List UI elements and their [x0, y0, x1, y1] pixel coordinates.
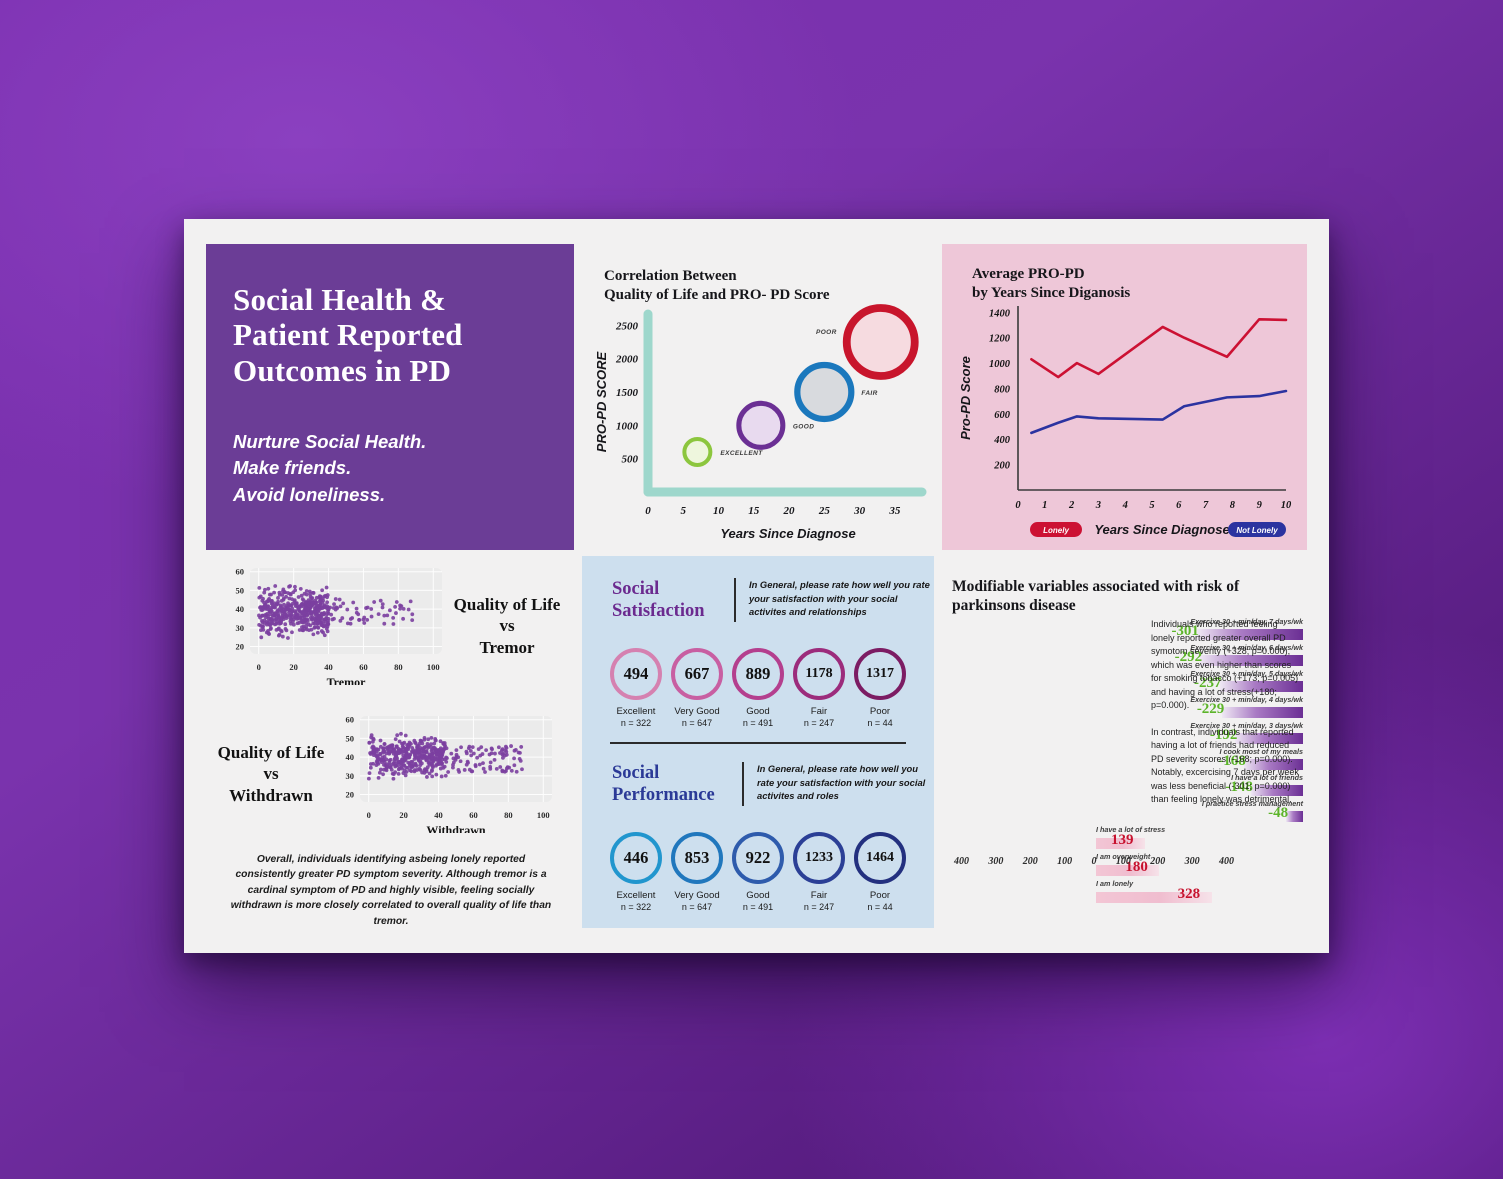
svg-text:80: 80	[504, 810, 513, 820]
svg-text:35: 35	[888, 505, 901, 517]
ring-value: 446	[624, 848, 649, 868]
tornado-value: 139	[1111, 832, 1134, 849]
poster-canvas: Social Health & Patient Reported Outcome…	[184, 219, 1329, 953]
ring-count: n = 44	[852, 902, 908, 912]
ring-good: 922	[732, 832, 784, 884]
svg-text:2000: 2000	[615, 354, 639, 366]
svg-text:30: 30	[853, 505, 866, 517]
svg-text:Not Lonely: Not Lonely	[1236, 526, 1278, 535]
svg-text:500: 500	[622, 454, 639, 466]
svg-text:15: 15	[748, 505, 760, 517]
svg-text:20: 20	[783, 505, 796, 517]
svg-text:Years Since Diagnose: Years Since Diagnose	[1094, 522, 1229, 537]
svg-text:Withdrawn: Withdrawn	[426, 823, 485, 833]
tornado-panel: Modifiable variables associated with ris…	[942, 556, 1307, 928]
line-chart-panel: Average PRO-PD by Years Since Diganosis …	[942, 244, 1307, 550]
svg-text:30: 30	[236, 623, 245, 633]
social-satisfaction-question: In General, please rate how well you rat…	[749, 578, 935, 619]
ring-value: 1233	[805, 850, 833, 866]
svg-text:25: 25	[818, 505, 831, 517]
ring-cell[interactable]: 1464Poorn = 44	[852, 832, 908, 912]
satisfaction-rule	[734, 578, 736, 622]
svg-text:40: 40	[346, 752, 355, 762]
social-satisfaction-heading-line1: Social	[612, 578, 705, 600]
ring-cell[interactable]: 1178Fairn = 247	[791, 648, 847, 728]
ring-count: n = 322	[608, 718, 664, 728]
svg-text:FAIR: FAIR	[861, 390, 877, 397]
social-satisfaction-rings: 494Excellentn = 322667Very Goodn = 64788…	[582, 648, 934, 728]
tornado-value: 328	[1178, 886, 1201, 903]
social-divider	[610, 742, 906, 744]
line-title-line1: Average PRO-PD	[972, 265, 1130, 284]
svg-text:Years Since Diagnose: Years Since Diagnose	[720, 526, 855, 541]
svg-text:60: 60	[469, 810, 478, 820]
ring-good: 889	[732, 648, 784, 700]
svg-text:Tremor: Tremor	[327, 675, 367, 685]
tornado-paragraph-2: In contrast, individuals that reported h…	[1151, 726, 1301, 807]
tornado-tick: 200	[1023, 856, 1038, 867]
svg-text:30: 30	[346, 771, 355, 781]
ring-value: 667	[685, 664, 710, 684]
ring-value: 853	[685, 848, 710, 868]
svg-text:0: 0	[1015, 500, 1021, 511]
social-performance-heading-line2: Performance	[612, 784, 715, 806]
qol-vs-tremor-svg: 0204060801002030405060Tremor	[220, 560, 452, 685]
svg-text:100: 100	[427, 662, 440, 672]
svg-text:2: 2	[1068, 500, 1075, 511]
svg-text:6: 6	[1176, 500, 1182, 511]
svg-text:5: 5	[681, 505, 687, 517]
svg-text:PRO-PD SCORE: PRO-PD SCORE	[594, 351, 609, 452]
svg-text:60: 60	[359, 662, 368, 672]
social-performance-heading-line1: Social	[612, 762, 715, 784]
svg-text:1000: 1000	[616, 420, 639, 432]
ring-value: 889	[746, 664, 771, 684]
svg-text:100: 100	[537, 810, 550, 820]
tornado-tick: 400	[954, 856, 969, 867]
svg-text:40: 40	[324, 662, 333, 672]
ring-value: 494	[624, 664, 649, 684]
svg-text:10: 10	[1281, 500, 1292, 511]
svg-text:20: 20	[289, 662, 298, 672]
svg-text:60: 60	[346, 715, 355, 725]
svg-text:1500: 1500	[616, 387, 639, 399]
tornado-row-label: I am lonely	[1096, 879, 1133, 888]
ring-label: Excellent	[608, 706, 664, 717]
svg-text:0: 0	[257, 662, 261, 672]
qol-vs-withdrawn-label: Quality of LifevsWithdrawn	[210, 742, 332, 806]
tornado-tick: 100	[1116, 856, 1131, 867]
ring-poor: 1317	[854, 648, 906, 700]
svg-text:9: 9	[1257, 500, 1263, 511]
qol-vs-withdrawn-svg: 0204060801002030405060Withdrawn	[330, 708, 562, 833]
ring-cell[interactable]: 1317Poorn = 44	[852, 648, 908, 728]
ring-excellent: 494	[610, 648, 662, 700]
tornado-row: I have a lot of stress139	[948, 826, 1303, 853]
tornado-tick: 300	[988, 856, 1003, 867]
svg-text:200: 200	[993, 461, 1011, 472]
ring-cell[interactable]: 494Excellentn = 322	[608, 648, 664, 728]
social-performance-rings: 446Excellentn = 322853Very Goodn = 64792…	[582, 832, 934, 912]
ring-count: n = 322	[608, 902, 664, 912]
svg-text:50: 50	[346, 733, 355, 743]
svg-text:40: 40	[434, 810, 443, 820]
title-panel: Social Health & Patient Reported Outcome…	[206, 244, 574, 550]
svg-text:Lonely: Lonely	[1043, 526, 1069, 535]
tornado-tick: 300	[1185, 856, 1200, 867]
ring-label: Fair	[791, 890, 847, 901]
ring-excellent: 446	[610, 832, 662, 884]
tornado-paragraph-1: Individuals who reported feeling lonely …	[1151, 618, 1301, 713]
ring-label: Fair	[791, 706, 847, 717]
social-performance-question: In General, please rate how well you rat…	[757, 762, 929, 803]
ring-value: 922	[746, 848, 771, 868]
scatter-panel: 0204060801002030405060Tremor Quality of …	[206, 556, 574, 928]
svg-text:1: 1	[1042, 500, 1047, 511]
svg-text:0: 0	[645, 505, 651, 517]
svg-text:7: 7	[1203, 500, 1209, 511]
svg-text:8: 8	[1230, 500, 1236, 511]
ring-very-good: 667	[671, 648, 723, 700]
performance-rule	[742, 762, 744, 806]
ring-count: n = 247	[791, 718, 847, 728]
ring-label: Very Good	[669, 706, 725, 717]
svg-text:3: 3	[1095, 500, 1101, 511]
ring-count: n = 647	[669, 902, 725, 912]
tornado-tick: 100	[1057, 856, 1072, 867]
line-chart-svg: 200400600800100012001400012345678910Pro-…	[946, 292, 1304, 547]
svg-text:0: 0	[367, 810, 371, 820]
svg-text:800: 800	[994, 384, 1011, 395]
ring-count: n = 491	[730, 902, 786, 912]
svg-text:EXCELLENT: EXCELLENT	[720, 450, 763, 457]
svg-text:4: 4	[1122, 500, 1128, 511]
ring-fair: 1233	[793, 832, 845, 884]
ring-fair: 1178	[793, 648, 845, 700]
svg-text:60: 60	[236, 567, 245, 577]
svg-text:GOOD: GOOD	[793, 423, 814, 430]
svg-text:50: 50	[236, 585, 245, 595]
svg-text:Pro-PD Score: Pro-PD Score	[958, 356, 973, 440]
ring-count: n = 247	[791, 902, 847, 912]
scatter-caption: Overall, individuals identifying asbeing…	[230, 852, 552, 929]
ring-cell[interactable]: 889Goodn = 491	[730, 648, 786, 728]
bubble-chart-panel: Correlation Between Quality of Life and …	[582, 244, 934, 550]
svg-text:600: 600	[994, 410, 1011, 421]
social-satisfaction-heading-line2: Satisfaction	[612, 600, 705, 622]
tornado-paragraphs: Individuals who reported feeling lonely …	[1151, 618, 1301, 820]
tornado-tick: 400	[1219, 856, 1234, 867]
ring-count: n = 647	[669, 718, 725, 728]
ring-very-good: 853	[671, 832, 723, 884]
ring-label: Good	[730, 706, 786, 717]
ring-cell[interactable]: 667Very Goodn = 647	[669, 648, 725, 728]
svg-text:5: 5	[1149, 500, 1154, 511]
svg-text:1400: 1400	[989, 308, 1011, 319]
ring-cell[interactable]: 922Goodn = 491	[730, 832, 786, 912]
poster-subtitle: Nurture Social Health.Make friends.Avoid…	[233, 429, 553, 508]
tornado-tick: 200	[1150, 856, 1165, 867]
tornado-row: I am lonely328	[948, 880, 1303, 907]
ring-cell[interactable]: 1233Fairn = 247	[791, 832, 847, 912]
svg-text:40: 40	[236, 604, 245, 614]
ring-label: Good	[730, 890, 786, 901]
poster-title: Social Health & Patient Reported Outcome…	[233, 282, 543, 388]
ring-count: n = 491	[730, 718, 786, 728]
ring-cell[interactable]: 446Excellentn = 322	[608, 832, 664, 912]
social-performance-heading: Social Performance	[612, 762, 715, 806]
ring-count: n = 44	[852, 718, 908, 728]
tornado-chart-title: Modifiable variables associated with ris…	[952, 577, 1252, 616]
svg-text:1200: 1200	[989, 334, 1011, 345]
ring-poor: 1464	[854, 832, 906, 884]
svg-text:10: 10	[713, 505, 725, 517]
svg-text:POOR: POOR	[816, 329, 837, 336]
ring-label: Very Good	[669, 890, 725, 901]
svg-text:2500: 2500	[615, 320, 639, 332]
svg-text:400: 400	[993, 435, 1011, 446]
svg-text:20: 20	[399, 810, 408, 820]
ring-label: Excellent	[608, 890, 664, 901]
svg-text:80: 80	[394, 662, 403, 672]
ring-value: 1317	[866, 666, 894, 682]
bubble-title-line1: Correlation Between	[604, 267, 830, 286]
tornado-tick: 0	[1092, 856, 1097, 867]
ring-label: Poor	[852, 706, 908, 717]
qol-vs-tremor-label: Quality of LifevsTremor	[446, 594, 568, 658]
ring-value: 1464	[866, 850, 894, 866]
ring-value: 1178	[805, 666, 832, 682]
svg-text:20: 20	[236, 642, 245, 652]
ring-label: Poor	[852, 890, 908, 901]
svg-text:1000: 1000	[989, 359, 1011, 370]
bubble-chart-svg: 500100015002000250005101520253035PRO-PD …	[586, 296, 930, 546]
svg-text:20: 20	[346, 790, 355, 800]
ring-cell[interactable]: 853Very Goodn = 647	[669, 832, 725, 912]
tornado-axis-ticks: 4003002001000100200300400	[954, 856, 1234, 867]
social-panel: Social Satisfaction In General, please r…	[582, 556, 934, 928]
social-satisfaction-heading: Social Satisfaction	[612, 578, 705, 622]
